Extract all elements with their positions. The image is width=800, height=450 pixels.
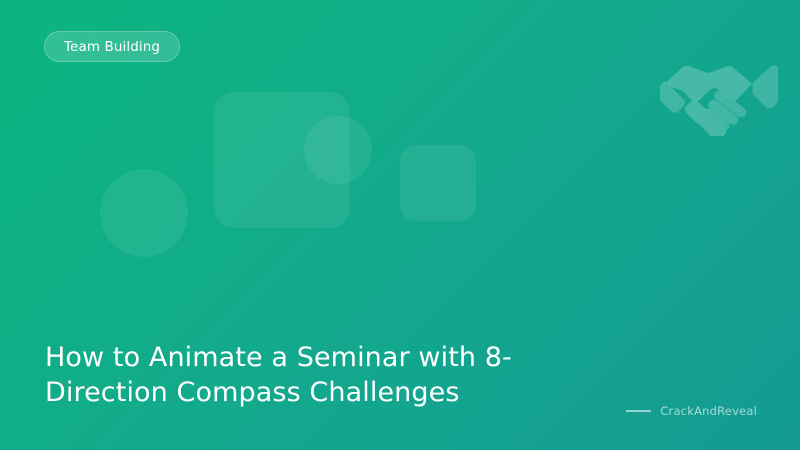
category-badge[interactable]: Team Building	[44, 31, 180, 62]
page-title: How to Animate a Seminar with 8-Directio…	[45, 340, 605, 410]
category-badge-label: Team Building	[64, 39, 160, 55]
decorative-circle-left	[100, 169, 188, 257]
promo-card: Team Building How to Animate a Seminar w…	[0, 0, 800, 450]
brand-credit: CrackAndReveal	[626, 404, 757, 418]
brand-dash-icon	[626, 410, 651, 412]
brand-name: CrackAndReveal	[660, 404, 757, 418]
decorative-rounded-square-large	[214, 92, 350, 228]
decorative-rounded-square-small	[400, 145, 476, 221]
decorative-circle-overlap	[304, 116, 372, 184]
handshake-icon	[660, 58, 778, 136]
